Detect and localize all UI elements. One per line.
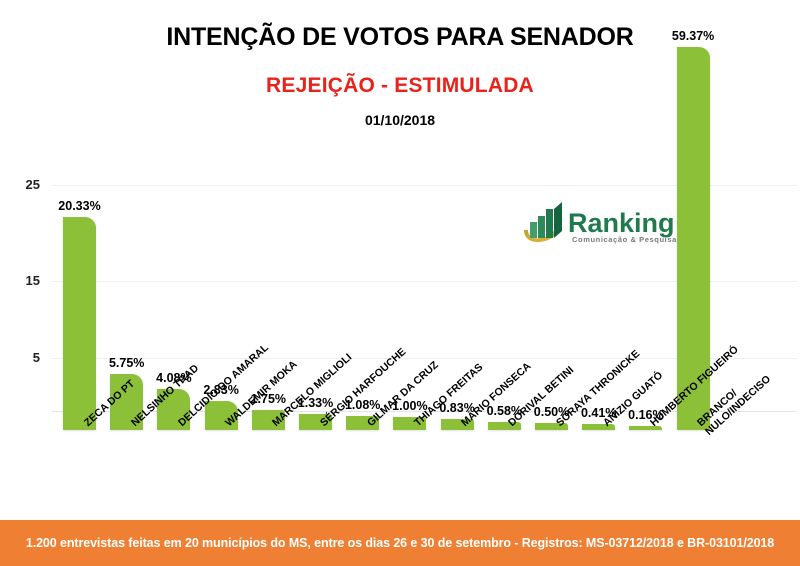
bar-value-label: 20.33% xyxy=(58,199,100,213)
footer-banner: 1.200 entrevistas feitas em 20 município… xyxy=(0,520,800,566)
footer-text: 1.200 entrevistas feitas em 20 município… xyxy=(26,536,774,550)
bar-value-label: 5.75% xyxy=(109,356,144,370)
bar-group: 20.33% xyxy=(63,19,96,430)
x-axis-labels: ZECA DO PTNELSINHO TRADDELCIDIO DO AMARA… xyxy=(0,414,800,514)
bar[interactable] xyxy=(63,217,96,430)
chart-page: INTENÇÃO DE VOTOS PARA SENADOR REJEIÇÃO … xyxy=(0,0,800,566)
bar-group: 5.75% xyxy=(110,19,143,430)
plot-area: 25 15 5 20.33%5.75%4.08%2.83%1.75%1.33%1… xyxy=(0,0,800,430)
bars-layer: 20.33%5.75%4.08%2.83%1.75%1.33%1.08%1.00… xyxy=(0,0,800,430)
bar-value-label: 59.37% xyxy=(672,29,714,43)
